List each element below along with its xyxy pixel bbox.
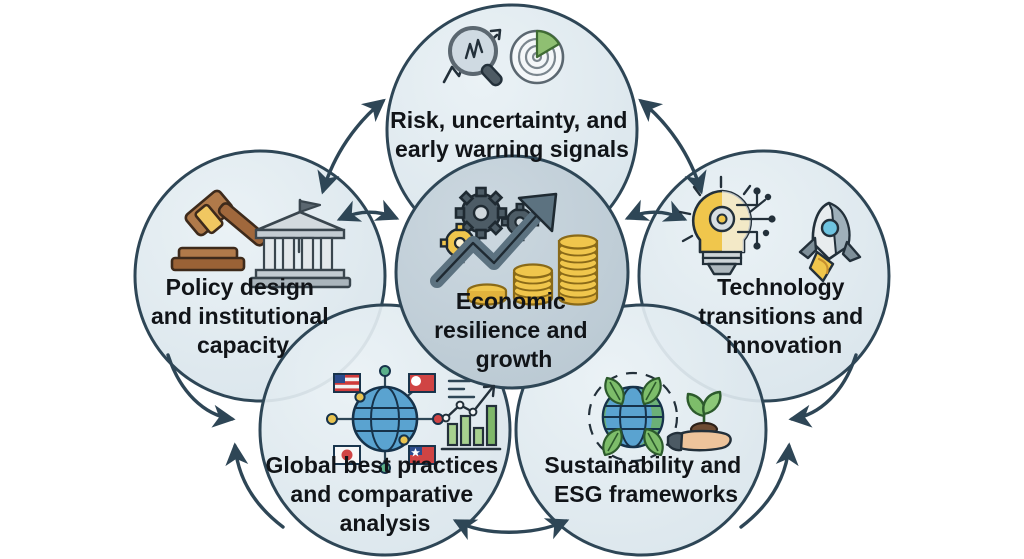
radar-scan-icon bbox=[511, 31, 563, 83]
diagram-canvas: Risk, uncertainty, and early warning sig… bbox=[0, 0, 1024, 559]
connector-global-sustainability bbox=[456, 521, 566, 532]
diagram-svg: Risk, uncertainty, and early warning sig… bbox=[0, 0, 1024, 559]
leaf-globe-icon bbox=[603, 378, 663, 455]
